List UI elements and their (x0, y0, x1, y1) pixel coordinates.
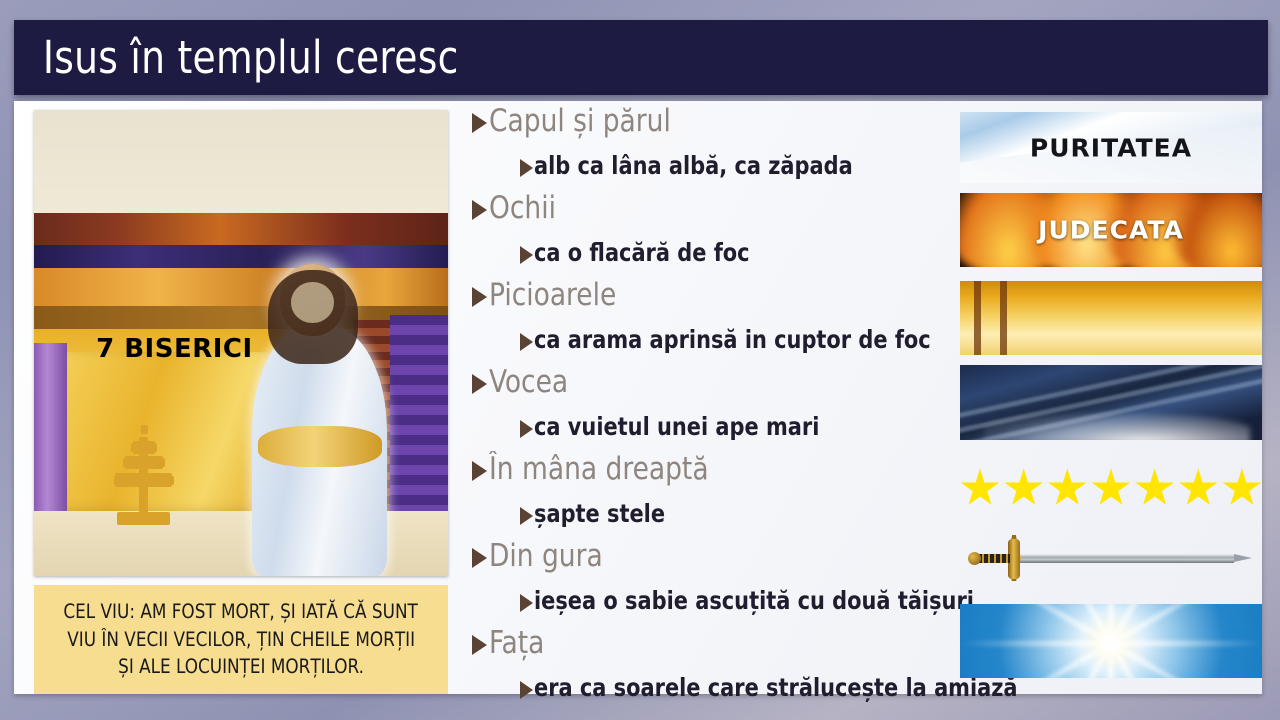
menorah-icon (104, 399, 183, 525)
right-image-strip: PURITATEA JUDECATA (960, 110, 1262, 695)
star-icon (1004, 469, 1044, 509)
photo-sky (34, 110, 448, 213)
bullet-level2: șapte stele (472, 498, 952, 538)
jesus-figure (249, 264, 390, 576)
sword-grip (978, 554, 1010, 563)
page-title: Isus în templul ceresc (14, 35, 459, 80)
caption-line-1: CEL VIU: AM FOST MORT, ȘI IATĂ CĂ SUNT (64, 598, 418, 626)
bullet-level2-label: alb ca lâna albă, ca zăpada (534, 150, 853, 181)
triangle-bullet-icon (472, 461, 487, 481)
triangle-bullet-icon (520, 159, 533, 177)
bullet-level1-label: Fața (489, 625, 544, 661)
star-icon (1091, 469, 1131, 509)
photo-caption-box: CEL VIU: AM FOST MORT, ȘI IATĂ CĂ SUNT V… (34, 585, 448, 694)
sword-blade (1016, 554, 1234, 563)
sword-tip (1234, 554, 1252, 562)
bullet-level1: Vocea (472, 364, 952, 411)
panel-snow-label: PURITATEA (960, 133, 1262, 162)
triangle-bullet-icon (520, 246, 533, 264)
panel-fire-label: JUDECATA (960, 216, 1262, 245)
title-banner: Isus în templul ceresc (14, 20, 1268, 95)
bullet-level1-label: Vocea (489, 364, 568, 400)
triangle-bullet-icon (520, 507, 533, 525)
triangle-bullet-icon (520, 333, 533, 351)
bullet-level2-label: era ca soarele care strălucește la amiaz… (534, 672, 1018, 703)
bullet-level1: Din gura (472, 538, 952, 585)
temple-photo: 7 BISERICI (34, 110, 448, 576)
water-foam (984, 413, 1250, 441)
panel-burnished-brass (960, 281, 1262, 355)
star-icon (1178, 469, 1218, 509)
panel-sun (960, 604, 1262, 678)
star-icon (1222, 469, 1262, 509)
bullet-level2-label: ca vuietul unei ape mari (534, 411, 819, 442)
triangle-bullet-icon (520, 594, 533, 612)
bullet-level2: ca vuietul unei ape mari (472, 411, 952, 451)
bullet-level2-label: șapte stele (534, 498, 665, 529)
bullet-level1-label: În mâna dreaptă (489, 451, 709, 487)
caption-line-2: VIU ÎN VECII VECILOR, ȚIN CHEILE MORȚII (67, 626, 415, 654)
bullet-level2: era ca soarele care strălucește la amiaz… (472, 672, 952, 712)
star-icon (1135, 469, 1175, 509)
triangle-bullet-icon (472, 287, 487, 307)
bullet-level1: În mâna dreaptă (472, 451, 952, 498)
panel-seven-stars (960, 462, 1262, 515)
panel-sword (960, 535, 1262, 581)
triangle-bullet-icon (472, 374, 487, 394)
panel-waterfall (960, 365, 1262, 440)
brass-bar (974, 281, 981, 355)
bullet-level1-label: Picioarele (489, 277, 616, 313)
bullet-level1-label: Ochii (489, 190, 556, 226)
bullet-level2: ieșea o sabie ascuțită cu două tăișuri (472, 585, 952, 625)
triangle-bullet-icon (520, 681, 533, 699)
brass-bar (1000, 281, 1007, 355)
bullet-level2-label: ca arama aprinsă in cuptor de foc (534, 324, 931, 355)
bullet-level1: Capul și părul (472, 103, 952, 150)
bullet-list: Capul și părul alb ca lâna albă, ca zăpa… (472, 103, 952, 693)
triangle-bullet-icon (472, 200, 487, 220)
triangle-bullet-icon (472, 548, 487, 568)
bullet-level1: Fața (472, 625, 952, 672)
panel-snow: PURITATEA (960, 112, 1262, 183)
bullet-level2: alb ca lâna albă, ca zăpada (472, 150, 952, 190)
panel-fire: JUDECATA (960, 193, 1262, 267)
bullet-level2: ca arama aprinsă in cuptor de foc (472, 324, 952, 364)
triangle-bullet-icon (472, 113, 487, 133)
star-icon (960, 469, 1000, 509)
star-icon (1047, 469, 1087, 509)
bullet-level1-label: Capul și părul (489, 103, 671, 139)
sword-pommel (968, 552, 981, 565)
triangle-bullet-icon (472, 635, 487, 655)
bullet-level2-label: ca o flacără de foc (534, 237, 750, 268)
triangle-bullet-icon (520, 420, 533, 438)
bullet-level2: ca o flacără de foc (472, 237, 952, 277)
bullet-level1-label: Din gura (489, 538, 603, 574)
photo-overlay-label: 7 BISERICI (96, 334, 253, 364)
photo-beam-red (34, 213, 448, 246)
caption-line-3: ȘI ALE LOCUINȚEI MORȚILOR. (118, 653, 364, 681)
bullet-level1: Ochii (472, 190, 952, 237)
bullet-level1: Picioarele (472, 277, 952, 324)
bullet-level2-label: ieșea o sabie ascuțită cu două tăișuri (534, 585, 974, 616)
